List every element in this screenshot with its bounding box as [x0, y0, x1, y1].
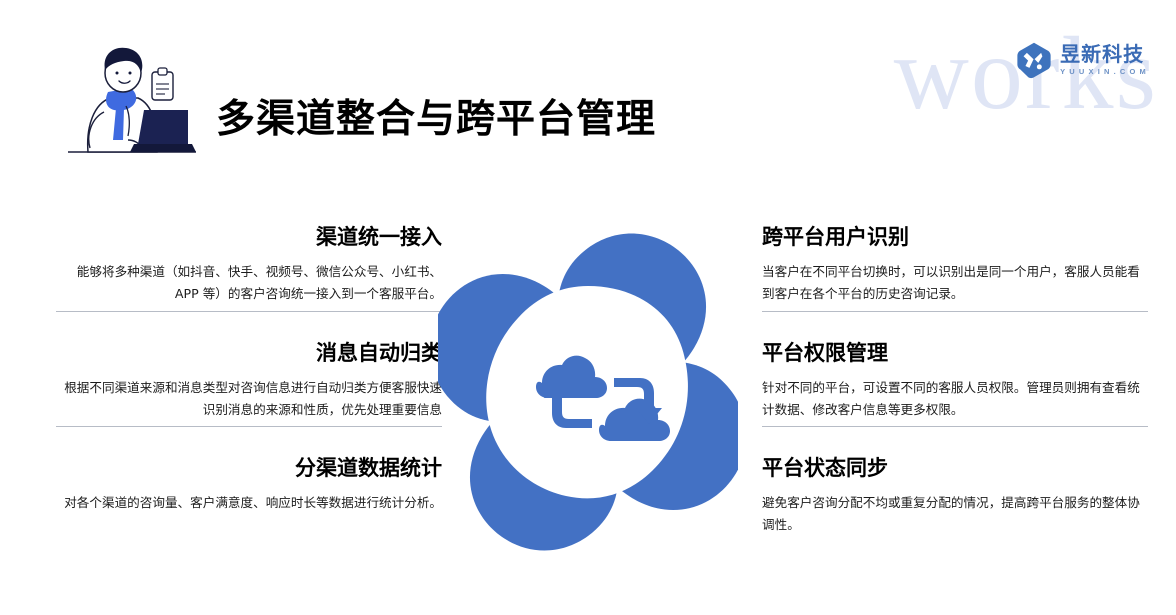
feature-description: 避免客户咨询分配不均或重复分配的情况，提高跨平台服务的整体协调性。: [762, 492, 1148, 535]
feature-title: 分渠道数据统计: [56, 455, 442, 481]
hexagon-x-logo-icon: [1015, 41, 1053, 79]
feature-item: 消息自动归类 根据不同渠道来源和消息类型对咨询信息进行自动归类方便客服快速识别消…: [56, 311, 442, 426]
feature-title: 消息自动归类: [56, 340, 442, 366]
feature-item: 分渠道数据统计 对各个渠道的咨询量、客户满意度、响应时长等数据进行统计分析。: [56, 426, 442, 541]
feature-description: 能够将多种渠道（如抖音、快手、视频号、微信公众号、小红书、APP 等）的客户咨询…: [56, 261, 442, 304]
left-feature-column: 渠道统一接入 能够将多种渠道（如抖音、快手、视频号、微信公众号、小红书、APP …: [56, 196, 442, 541]
feature-title: 平台状态同步: [762, 455, 1148, 481]
feature-description: 根据不同渠道来源和消息类型对咨询信息进行自动归类方便客服快速识别消息的来源和性质…: [56, 377, 442, 420]
feature-title: 平台权限管理: [762, 340, 1148, 366]
feature-description: 当客户在不同平台切换时，可以识别出是同一个用户，客服人员能看到客户在各个平台的历…: [762, 261, 1148, 304]
feature-title: 渠道统一接入: [56, 224, 442, 250]
page-header: works: [0, 0, 1176, 190]
feature-item: 平台状态同步 避免客户咨询分配不均或重复分配的情况，提高跨平台服务的整体协调性。: [762, 426, 1148, 541]
feature-description: 针对不同的平台，可设置不同的客服人员权限。管理员则拥有查看统计数据、修改客户信息…: [762, 377, 1148, 420]
page-title: 多渠道整合与跨平台管理: [216, 88, 656, 144]
feature-item: 平台权限管理 针对不同的平台，可设置不同的客服人员权限。管理员则拥有查看统计数据…: [762, 311, 1148, 426]
feature-item: 渠道统一接入 能够将多种渠道（如抖音、快手、视频号、微信公众号、小红书、APP …: [56, 196, 442, 311]
person-at-laptop-illustration: [66, 40, 198, 168]
feature-title: 跨平台用户识别: [762, 224, 1148, 250]
brand-name: 昱新科技: [1060, 44, 1144, 65]
brand-domain: YUUXIN.COM: [1060, 67, 1150, 76]
feature-description: 对各个渠道的咨询量、客户满意度、响应时长等数据进行统计分析。: [56, 492, 442, 514]
feature-item: 跨平台用户识别 当客户在不同平台切换时，可以识别出是同一个用户，客服人员能看到客…: [762, 196, 1148, 311]
right-feature-column: 跨平台用户识别 当客户在不同平台切换时，可以识别出是同一个用户，客服人员能看到客…: [762, 196, 1148, 541]
pinwheel-cloud-sync-graphic: [438, 222, 738, 562]
brand-logo[interactable]: 昱新科技 YUUXIN.COM: [1015, 41, 1150, 79]
